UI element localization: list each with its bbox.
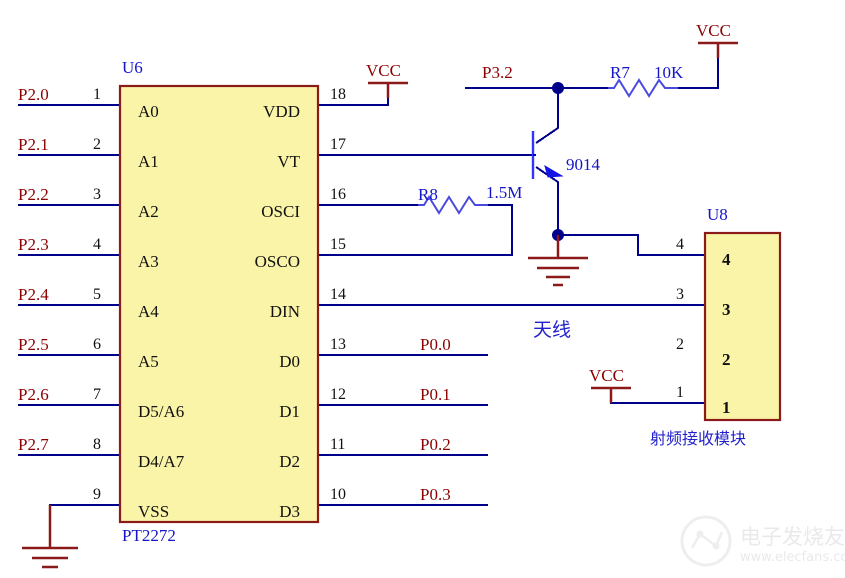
net-label-p2-2: P2.2 — [18, 186, 49, 203]
pin-name-osci: OSCI — [180, 203, 300, 220]
pin-number-5: 5 — [93, 287, 101, 303]
net-label-p0-3: P0.3 — [420, 486, 451, 503]
transistor-emitter-arrow — [545, 166, 562, 177]
r7-value: 10K — [654, 64, 683, 81]
vcc-symbol-r7 — [698, 43, 738, 58]
pin-name-d1: D1 — [180, 403, 300, 420]
antenna-label: 天线 — [533, 321, 571, 340]
pin-number-8: 8 — [93, 437, 101, 453]
ground-symbol-emitter — [528, 235, 588, 285]
u8-pin-label-1: 1 — [722, 399, 731, 416]
net-label-p3-2: P3.2 — [482, 64, 513, 81]
pin-name-d2: D2 — [180, 453, 300, 470]
u8-refdes: U8 — [707, 206, 728, 223]
pin-name-a2: A2 — [138, 203, 159, 220]
pin-number-17: 17 — [330, 137, 346, 153]
net-label-p2-7: P2.7 — [18, 436, 49, 453]
wire-osci-r8-right — [318, 205, 512, 255]
wire-vcc-u8-1 — [611, 388, 705, 403]
pin-number-4: 4 — [93, 237, 101, 253]
pin-name-osco: OSCO — [180, 253, 300, 270]
pin-number-13: 13 — [330, 337, 346, 353]
net-label-p2-0: P2.0 — [18, 86, 49, 103]
resistor-r7-symbol — [608, 80, 678, 96]
vcc-symbol-u8 — [591, 388, 631, 403]
u8-pin-label-2: 2 — [722, 351, 731, 368]
pin-name-a5: A5 — [138, 353, 159, 370]
pin-number-16: 16 — [330, 187, 346, 203]
pin-number-12: 12 — [330, 387, 346, 403]
pin-name-a3: A3 — [138, 253, 159, 270]
pin-number-7: 7 — [93, 387, 101, 403]
r8-refdes: R8 — [418, 186, 438, 203]
watermark-text-cn: 电子发烧友 — [740, 527, 845, 548]
pin-number-2: 2 — [93, 137, 101, 153]
schematic-canvas: U6 PT2272 P2.0 P2.1 P2.2 P2.3 P2.4 P2.5 … — [0, 0, 845, 578]
net-label-p0-0: P0.0 — [420, 336, 451, 353]
pin-number-10: 10 — [330, 487, 346, 503]
wire-vss-ground — [50, 505, 120, 548]
pin-name-vt: VT — [180, 153, 300, 170]
net-label-vcc-r7: VCC — [696, 22, 731, 39]
pin-name-a1: A1 — [138, 153, 159, 170]
pin-number-9: 9 — [93, 487, 101, 503]
net-label-p2-3: P2.3 — [18, 236, 49, 253]
wire-collector — [536, 88, 558, 143]
pin-number-1: 1 — [93, 87, 101, 103]
u8-ext-pin-number-1: 1 — [676, 385, 684, 401]
u8-ext-pin-number-3: 3 — [676, 287, 684, 303]
pin-name-din: DIN — [180, 303, 300, 320]
u8-pin-label-3: 3 — [722, 301, 731, 318]
transistor-label-9014: 9014 — [566, 156, 600, 173]
pin-name-a0: A0 — [138, 103, 159, 120]
pin-number-14: 14 — [330, 287, 346, 303]
pin-name-d0: D0 — [180, 353, 300, 370]
net-label-p2-6: P2.6 — [18, 386, 49, 403]
net-label-p2-1: P2.1 — [18, 136, 49, 153]
pin-number-15: 15 — [330, 237, 346, 253]
u8-pin-label-4: 4 — [722, 251, 731, 268]
pin-number-11: 11 — [330, 437, 345, 453]
u8-ext-pin-number-4: 4 — [676, 237, 684, 253]
ground-symbol-vss — [22, 505, 78, 567]
pin-number-18: 18 — [330, 87, 346, 103]
watermark-logo — [682, 517, 730, 565]
net-label-p0-2: P0.2 — [420, 436, 451, 453]
pin-name-vss: VSS — [138, 503, 169, 520]
pin-name-d4-a7: D4/A7 — [138, 453, 184, 470]
wire-vdd-vcc — [318, 83, 388, 105]
pin-number-3: 3 — [93, 187, 101, 203]
wire-r7-vcc — [678, 52, 718, 88]
vcc-symbol-u6 — [368, 83, 408, 98]
junction-dot-p32 — [552, 82, 564, 94]
net-label-vcc-u8: VCC — [589, 367, 624, 384]
pin-name-d5-a6: D5/A6 — [138, 403, 184, 420]
net-label-p0-1: P0.1 — [420, 386, 451, 403]
net-label-vcc-u6: VCC — [366, 62, 401, 79]
r8-value: 1.5M — [486, 184, 522, 201]
u6-part-label: PT2272 — [122, 527, 176, 544]
u8-ext-pin-number-2: 2 — [676, 337, 684, 353]
net-label-p2-5: P2.5 — [18, 336, 49, 353]
u8-body — [705, 233, 780, 420]
u6-refdes: U6 — [122, 59, 143, 76]
pin-name-a4: A4 — [138, 303, 159, 320]
u8-caption: 射频接收模块 — [650, 431, 746, 447]
watermark-text-url: www.elecfans.com — [740, 551, 845, 564]
net-label-p2-4: P2.4 — [18, 286, 49, 303]
pin-name-d3: D3 — [180, 503, 300, 520]
r7-refdes: R7 — [610, 64, 630, 81]
wire-emitter — [536, 167, 558, 235]
pin-number-6: 6 — [93, 337, 101, 353]
pin-name-vdd: VDD — [180, 103, 300, 120]
